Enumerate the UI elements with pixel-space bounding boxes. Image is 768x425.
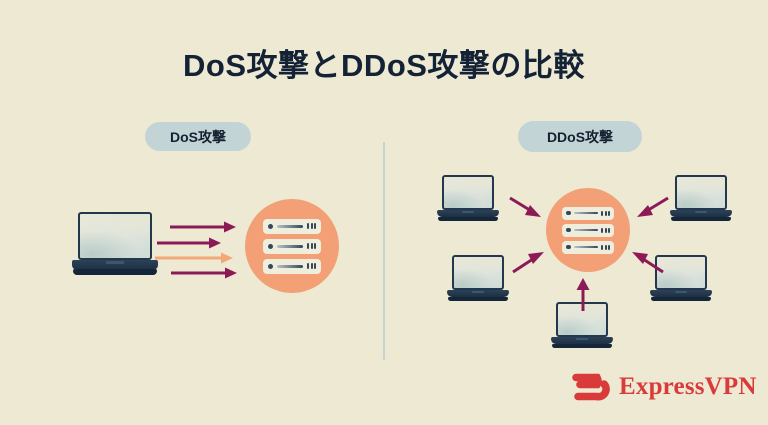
laptop-lid xyxy=(452,255,505,290)
laptop-base xyxy=(651,297,712,301)
ddos-laptop-mid-left xyxy=(447,255,509,303)
laptop-base xyxy=(438,217,499,221)
laptop-base xyxy=(73,269,157,275)
server-bar-icon xyxy=(277,245,303,248)
ddos-arrow-top-left xyxy=(509,196,543,220)
server-bar-icon xyxy=(574,212,599,215)
laptop-base xyxy=(671,217,732,221)
ddos-arrow-mid-left xyxy=(512,248,546,274)
dos-arrow-3 xyxy=(155,252,233,264)
dos-arrow-1 xyxy=(170,221,236,233)
laptop-trackpad xyxy=(576,338,588,340)
ddos-laptop-top-right xyxy=(670,175,732,223)
server-unit xyxy=(562,207,614,220)
laptop-screen xyxy=(80,214,149,258)
laptop-screen xyxy=(454,257,503,288)
server-bar-icon xyxy=(277,265,303,268)
dos-attacker-laptop xyxy=(72,212,158,278)
server-bar-icon xyxy=(574,246,599,249)
ddos-arrow-top-right xyxy=(635,196,669,220)
server-dots-icon xyxy=(307,223,316,229)
server-dots-icon xyxy=(307,263,316,269)
laptop-trackpad xyxy=(106,261,123,264)
server-dots-icon xyxy=(601,211,610,216)
server-unit xyxy=(263,239,321,254)
badge-ddos: DDoS攻撃 xyxy=(518,121,642,152)
page-title: DoS攻撃とDDoS攻撃の比較 xyxy=(0,40,768,85)
section-divider xyxy=(383,142,385,360)
laptop-screen xyxy=(677,177,726,208)
laptop-trackpad xyxy=(695,211,707,213)
server-dots-icon xyxy=(307,243,316,249)
ddos-target-server xyxy=(546,188,630,272)
infographic-canvas: DoS攻撃とDDoS攻撃の比較 DoS攻撃 xyxy=(0,0,768,425)
server-led-icon xyxy=(566,211,571,216)
laptop-lid xyxy=(675,175,728,210)
laptop-base xyxy=(552,344,613,348)
expressvpn-mark-icon xyxy=(570,370,610,404)
server-led-icon xyxy=(566,228,571,233)
expressvpn-logo: ExpressVPN xyxy=(570,370,757,404)
server-bar-icon xyxy=(574,229,599,232)
badge-ddos-label: DDoS攻撃 xyxy=(547,127,613,147)
laptop-lid xyxy=(442,175,495,210)
badge-dos-label: DoS攻撃 xyxy=(170,127,226,147)
server-led-icon xyxy=(268,224,273,229)
server-unit xyxy=(562,241,614,254)
server-unit xyxy=(263,259,321,274)
laptop-trackpad xyxy=(675,291,687,293)
server-dots-icon xyxy=(601,228,610,233)
laptop-base xyxy=(448,297,509,301)
expressvpn-wordmark: ExpressVPN xyxy=(619,373,757,401)
laptop-screen xyxy=(444,177,493,208)
laptop-lid xyxy=(78,212,151,260)
dos-arrow-4 xyxy=(171,267,237,279)
laptop-trackpad xyxy=(472,291,484,293)
server-led-icon xyxy=(566,245,571,250)
laptop-trackpad xyxy=(462,211,474,213)
server-dots-icon xyxy=(601,245,610,250)
badge-dos: DoS攻撃 xyxy=(145,122,251,151)
server-bar-icon xyxy=(277,225,303,228)
ddos-laptop-top-left xyxy=(437,175,499,223)
server-led-icon xyxy=(268,264,273,269)
dos-target-server xyxy=(245,199,339,293)
ddos-arrow-mid-right xyxy=(630,248,664,274)
server-unit xyxy=(562,224,614,237)
server-led-icon xyxy=(268,244,273,249)
server-unit xyxy=(263,219,321,234)
ddos-arrow-bottom xyxy=(576,278,590,312)
dos-arrow-2 xyxy=(157,237,221,249)
